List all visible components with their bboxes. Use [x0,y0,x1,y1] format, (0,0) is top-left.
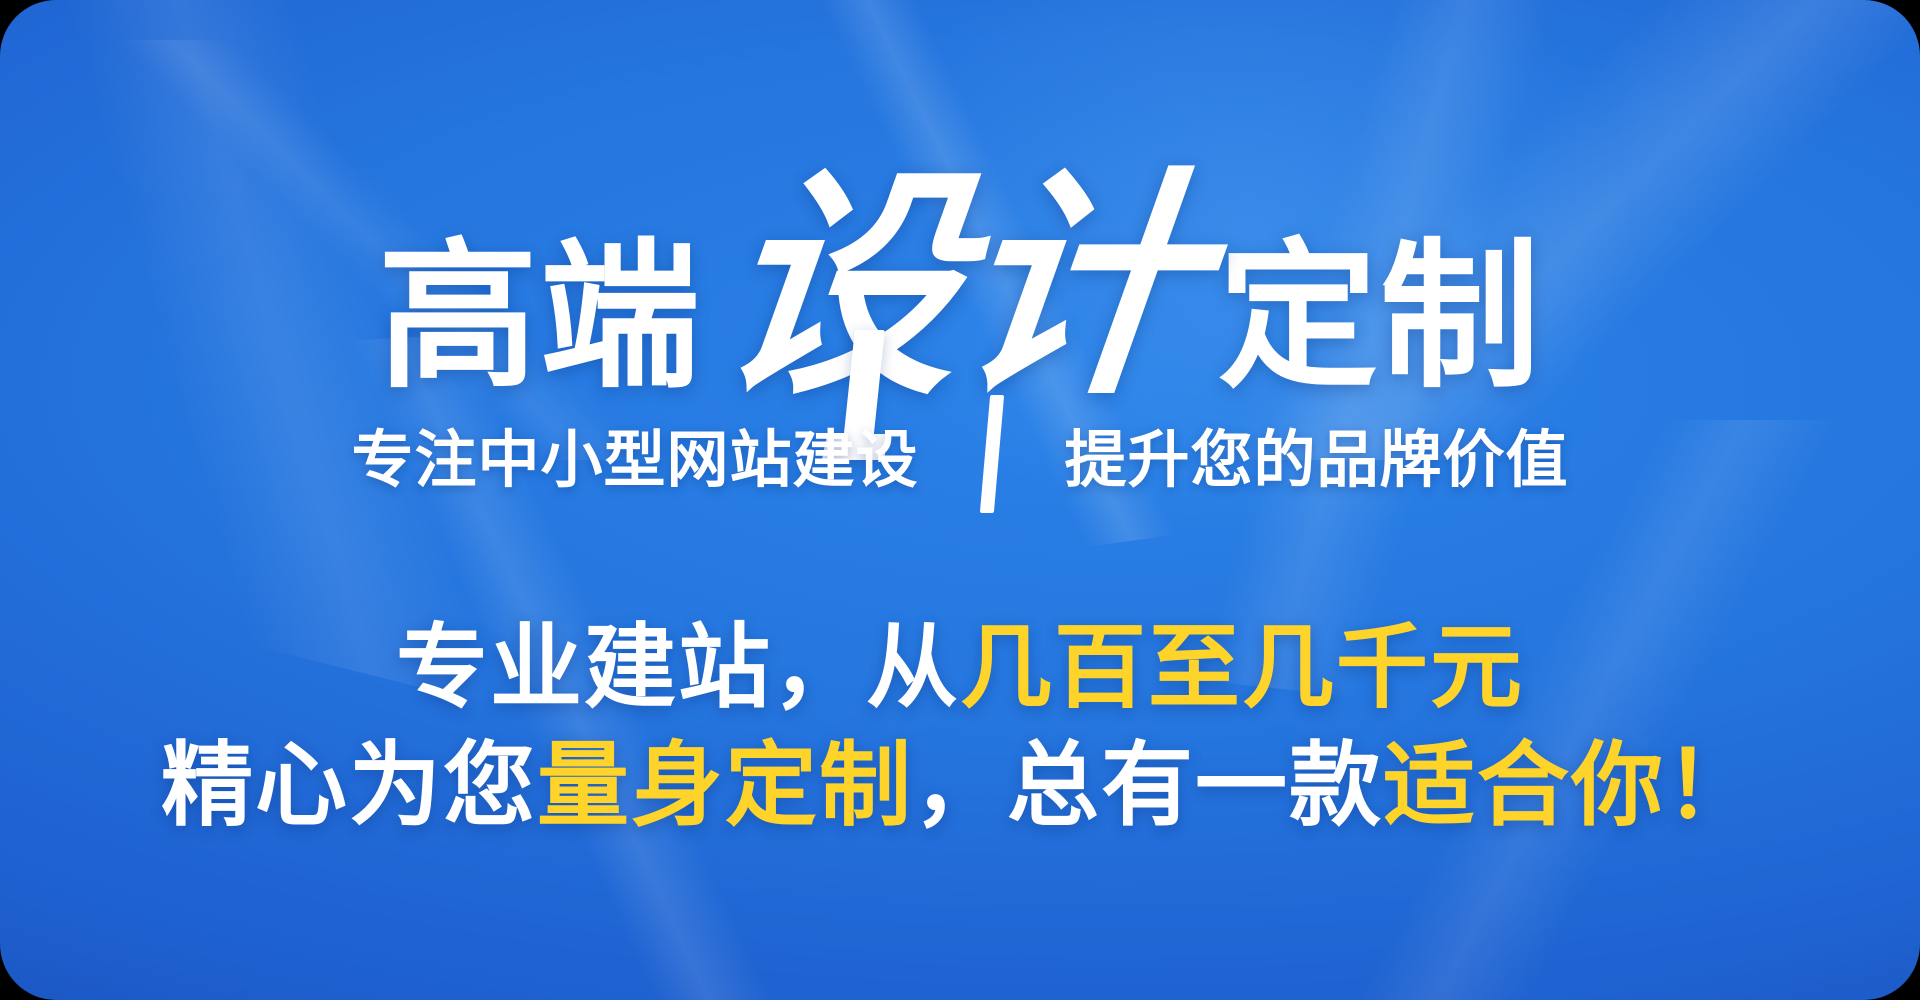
promo-banner: 高端 设计 定制 专注中小型网站建设 提升您的品牌价值 专业建站，从几百至几千元… [0,0,1920,1000]
vignette-overlay [0,0,1920,1000]
